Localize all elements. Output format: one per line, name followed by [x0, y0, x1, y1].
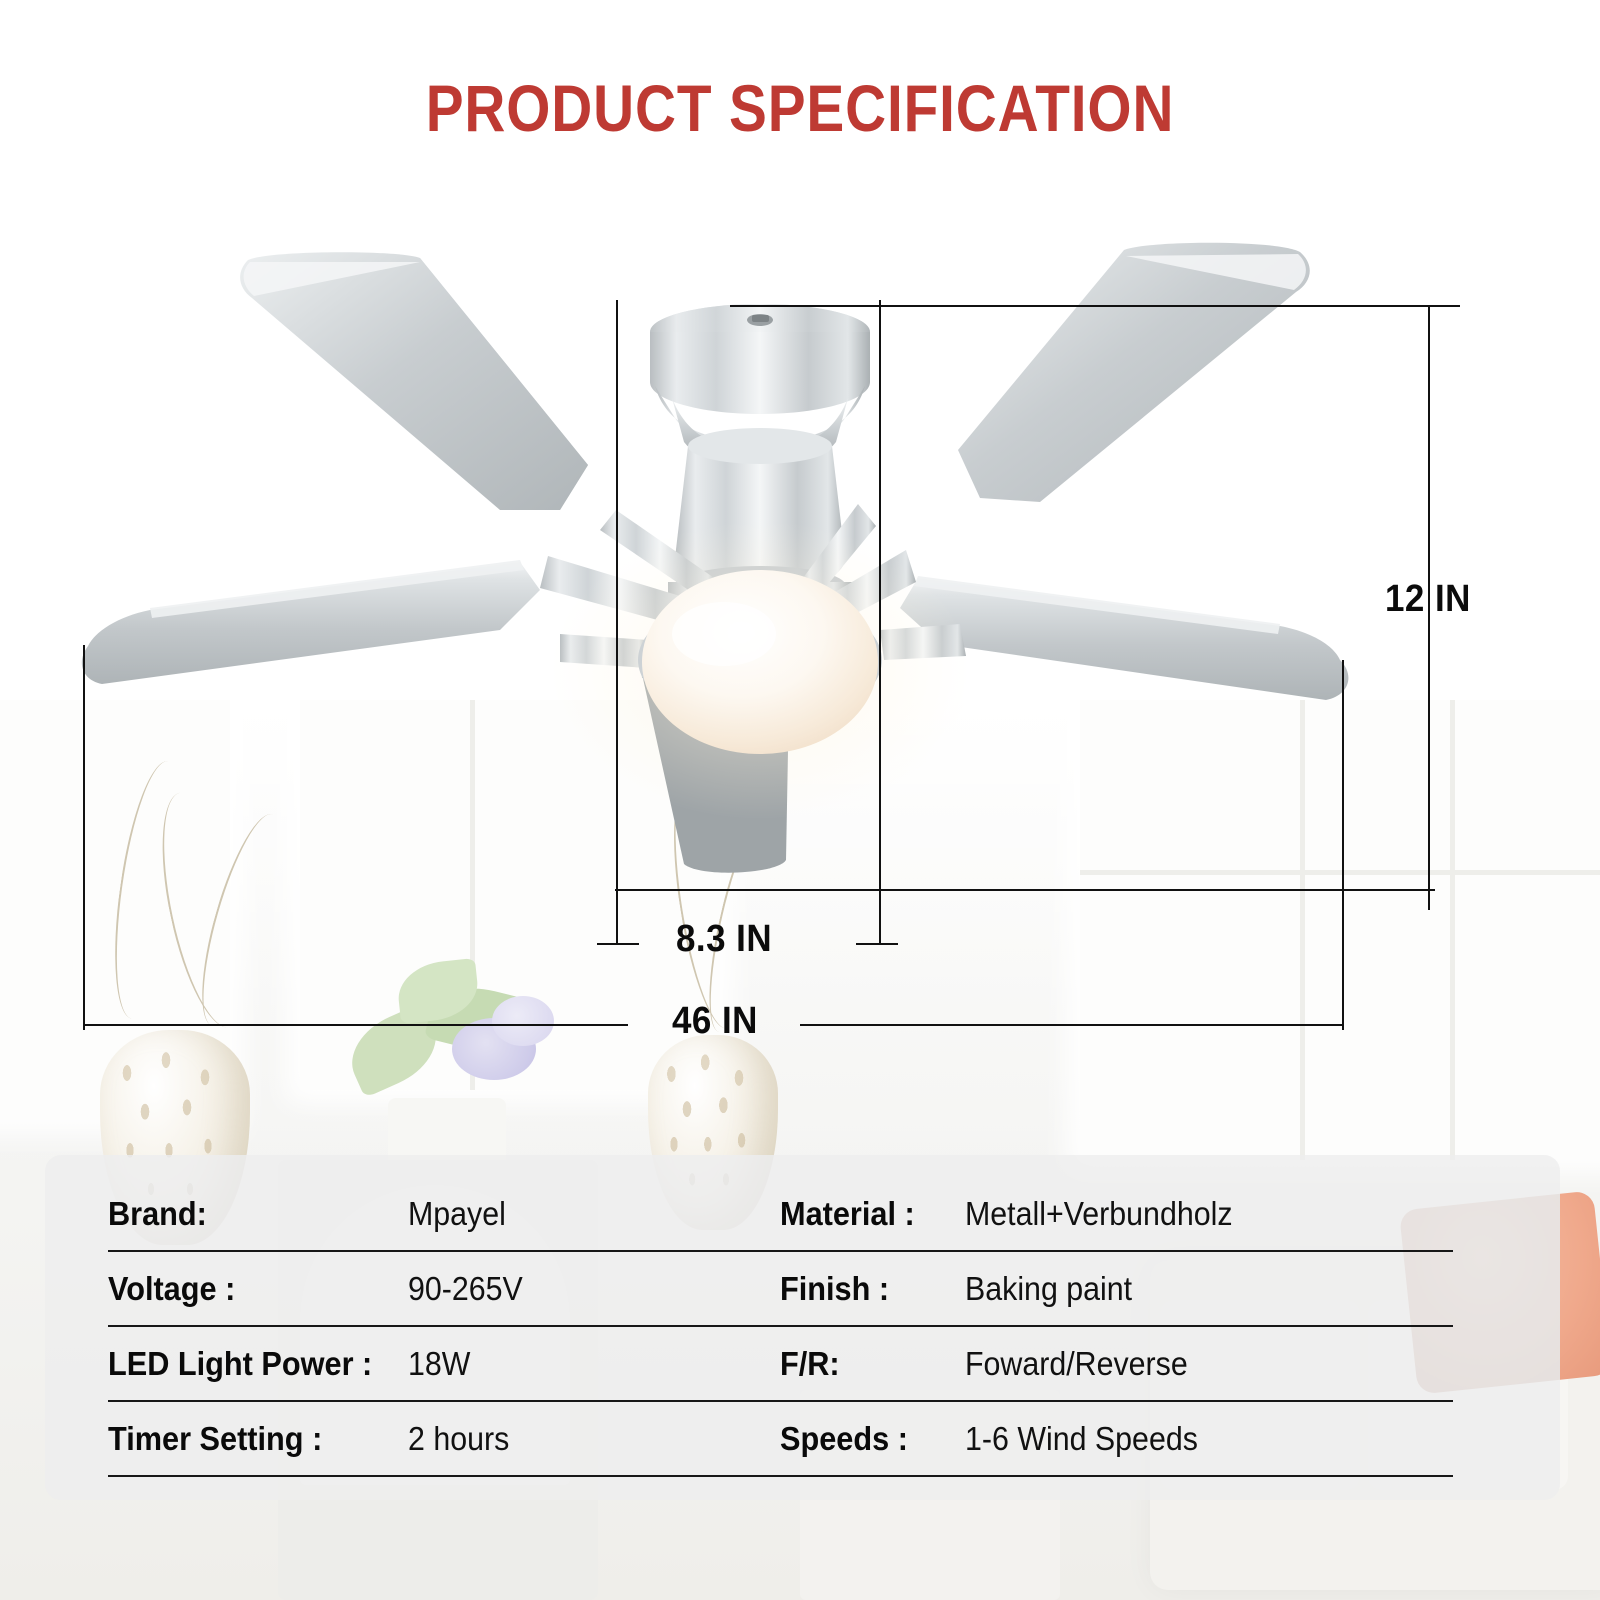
spec-key: LED Light Power : — [108, 1345, 387, 1383]
spec-key: Speeds : — [780, 1420, 952, 1458]
spec-value: 90-265V — [408, 1270, 523, 1308]
dim-line-span-left — [83, 1024, 628, 1026]
dim-extension-span-left — [83, 645, 85, 1030]
page-title: PRODUCT SPECIFICATION — [112, 70, 1488, 146]
spec-cell-led-power: LED Light Power : 18W — [108, 1345, 780, 1383]
spec-cell-fr: F/R: Foward/Reverse — [780, 1345, 1453, 1383]
spec-key: Finish : — [780, 1270, 952, 1308]
spec-cell-voltage: Voltage : 90-265V — [108, 1270, 780, 1308]
table-row: LED Light Power : 18W F/R: Foward/Revers… — [108, 1327, 1453, 1402]
spec-key: Material : — [780, 1195, 952, 1233]
spec-value: Foward/Reverse — [965, 1345, 1188, 1383]
dim-extension-top — [730, 305, 1460, 307]
dim-extension-mid — [615, 889, 1435, 891]
spec-value: 1-6 Wind Speeds — [965, 1420, 1198, 1458]
spec-cell-material: Material : Metall+Verbundholz — [780, 1195, 1453, 1233]
fan-blade-left — [82, 560, 540, 684]
dim-extension-hub-left — [616, 300, 618, 945]
dim-label-hub: 8.3 IN — [676, 918, 772, 961]
table-row: Voltage : 90-265V Finish : Baking paint — [108, 1252, 1453, 1327]
specification-panel: Brand: Mpayel Material : Metall+Verbundh… — [45, 1155, 1560, 1500]
spec-value: 2 hours — [408, 1420, 509, 1458]
table-row: Timer Setting : 2 hours Speeds : 1-6 Win… — [108, 1402, 1453, 1477]
dim-label-span: 46 IN — [672, 1000, 758, 1043]
spec-cell-speeds: Speeds : 1-6 Wind Speeds — [780, 1420, 1453, 1458]
specification-table: Brand: Mpayel Material : Metall+Verbundh… — [108, 1177, 1453, 1477]
spec-key: Voltage : — [108, 1270, 387, 1308]
dim-tick-hub-left — [597, 943, 639, 945]
spec-key: Brand: — [108, 1195, 387, 1233]
spec-cell-timer: Timer Setting : 2 hours — [108, 1420, 780, 1458]
spec-value: Metall+Verbundholz — [965, 1195, 1233, 1233]
dim-label-height: 12 IN — [1385, 578, 1471, 621]
spec-key: Timer Setting : — [108, 1420, 387, 1458]
spec-key: F/R: — [780, 1345, 952, 1383]
dim-line-span-right — [800, 1024, 1344, 1026]
dim-extension-span-right — [1342, 660, 1344, 1030]
spec-cell-finish: Finish : Baking paint — [780, 1270, 1453, 1308]
ceiling-fan-illustration — [0, 210, 1600, 1090]
spec-cell-brand: Brand: Mpayel — [108, 1195, 780, 1233]
fan-blade-upper-left — [240, 252, 588, 510]
spec-value: 18W — [408, 1345, 470, 1383]
spec-value: Baking paint — [965, 1270, 1132, 1308]
fan-blade-upper-right — [958, 243, 1310, 502]
spec-value: Mpayel — [408, 1195, 506, 1233]
table-row: Brand: Mpayel Material : Metall+Verbundh… — [108, 1177, 1453, 1252]
dim-extension-hub-right — [879, 300, 881, 945]
dim-tick-hub-right — [856, 943, 898, 945]
